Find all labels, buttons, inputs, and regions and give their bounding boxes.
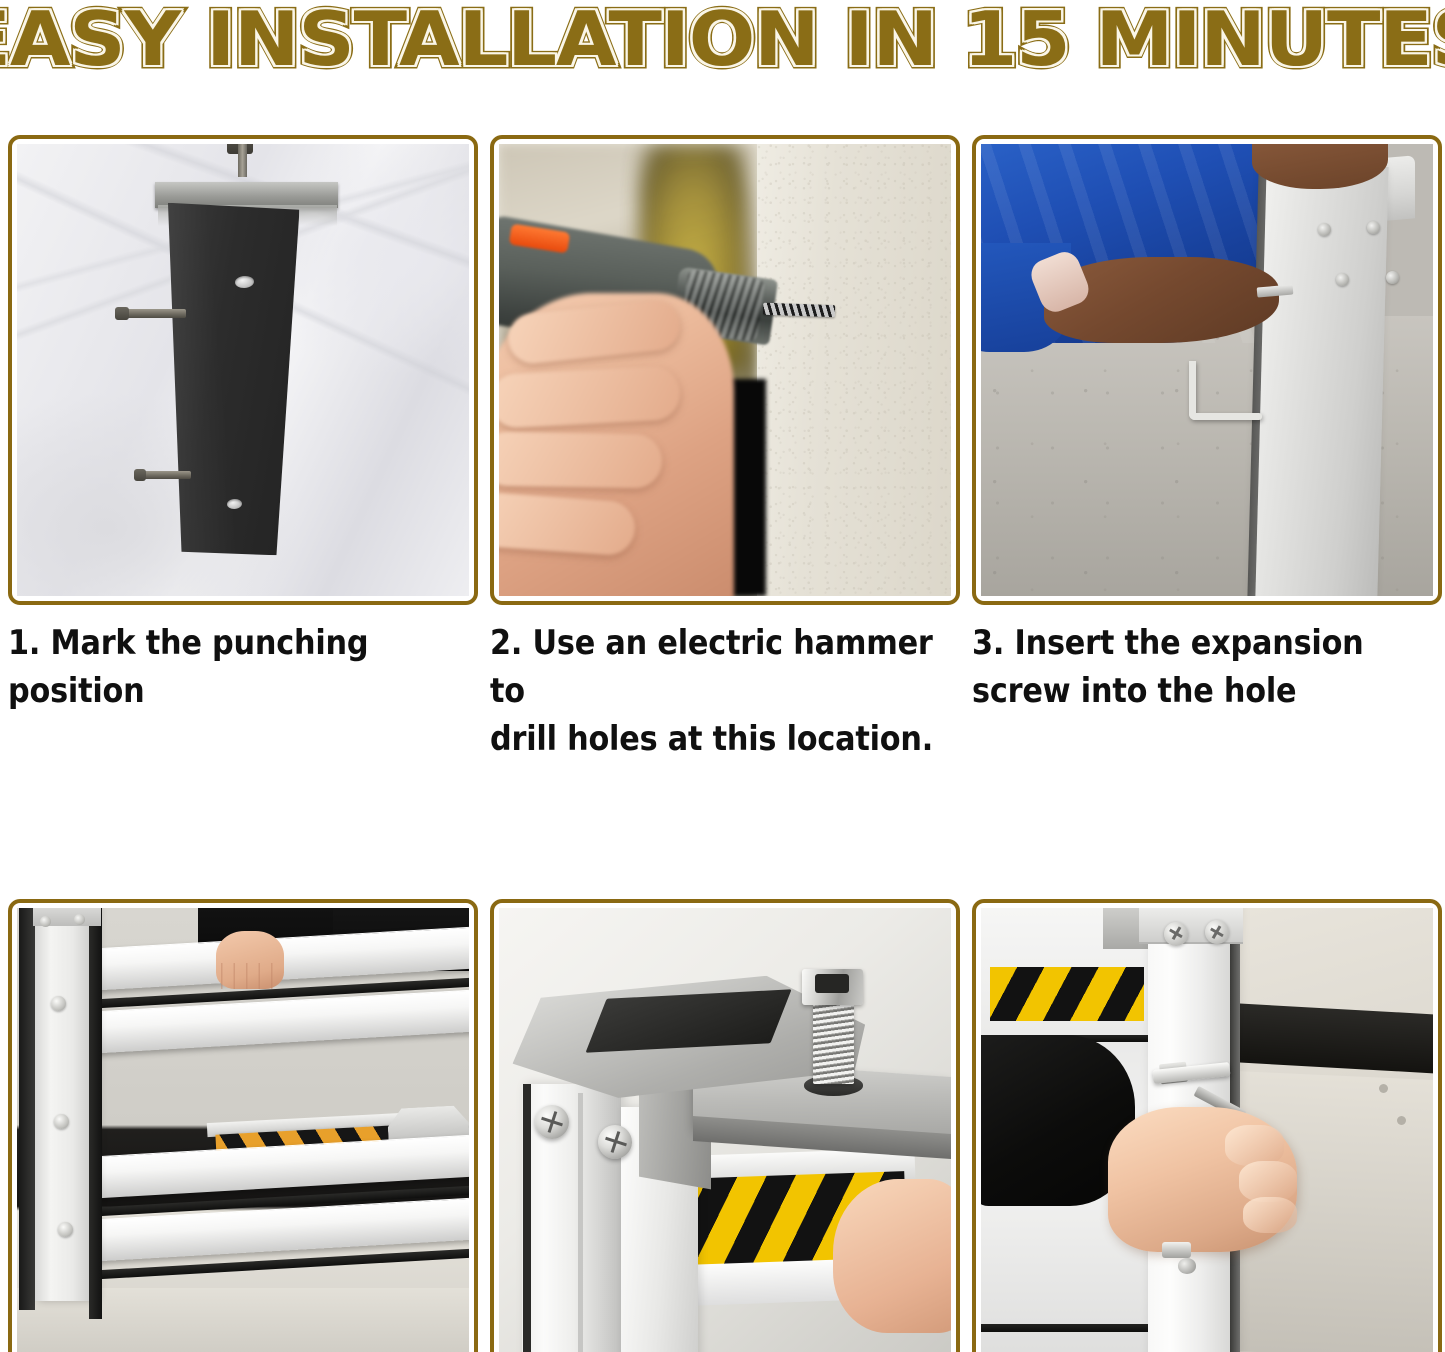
step-4-photo-frame (8, 899, 478, 1352)
lower-screw-head (1178, 1258, 1196, 1273)
column-dark-edge (523, 1084, 530, 1352)
hex-bolt-head (802, 969, 863, 1005)
lower-screw-fitting (1162, 1242, 1191, 1257)
floor-speck-1 (1379, 1084, 1388, 1093)
knuckle-1 (1225, 1125, 1284, 1166)
step-6-photo-tighten-screws (981, 908, 1433, 1352)
post-screw-1 (51, 996, 66, 1011)
floor-speck-2 (1397, 1116, 1406, 1125)
drill-bit (763, 302, 836, 316)
step-card-5: 5. Install the lower pressing parts on b… (490, 899, 960, 1352)
hazard-stripe (990, 967, 1144, 1021)
post-shadow-left (19, 908, 35, 1310)
step-1-photo-frame (8, 135, 478, 605)
step-5-photo-lower-pressing-parts (499, 908, 951, 1352)
step-card-6: 6. Tighten the screws on both sides of t… (972, 899, 1442, 1352)
top-threaded-rod (238, 144, 247, 177)
step-2-photo-frame (490, 135, 960, 605)
page-title-banner: EASY INSTALLATION IN 15 MINUTES (0, 0, 1445, 84)
panel-gap-2 (981, 1324, 1162, 1332)
step-card-4: 4. Put the motherboard into the card slo… (8, 899, 478, 1352)
phillips-screw-1 (535, 1105, 569, 1139)
installation-guide-page: EASY INSTALLATION IN 15 MINUTES (0, 0, 1445, 1352)
bolt-thread (813, 1003, 854, 1084)
installer-hand (833, 1179, 951, 1333)
finger-middle (499, 365, 681, 429)
step-card-1: 1. Mark the punching position (8, 135, 478, 763)
expansion-bolt-upper (119, 309, 187, 318)
allen-key-icon (1189, 361, 1214, 420)
step-5-photo-frame (490, 899, 960, 1352)
step-4-photo-insert-boards (17, 908, 469, 1352)
step-2-photo-drill-holes (499, 144, 951, 596)
step-3-photo-frame (972, 135, 1442, 605)
step-6-photo-frame (972, 899, 1442, 1352)
step-3-photo-insert-expansion-screw (981, 144, 1433, 596)
textured-wall (757, 144, 951, 596)
finger-ring (499, 432, 662, 489)
page-title: EASY INSTALLATION IN 15 MINUTES (0, 2, 1445, 77)
steps-row-bottom: 4. Put the motherboard into the card slo… (8, 899, 1437, 1352)
guide-post (35, 908, 96, 1301)
column-groove (578, 1093, 583, 1352)
step-1-caption: 1. Mark the punching position (8, 619, 473, 715)
bracket-slot (586, 989, 792, 1053)
step-card-2: 2. Use an electric hammer to drill holes… (490, 135, 960, 763)
step-3-caption: 3. Insert the expansion screw into the h… (972, 619, 1437, 715)
knuckle-3 (1243, 1197, 1297, 1233)
post-screw-3 (58, 1222, 73, 1237)
step-2-caption: 2. Use an electric hammer to drill holes… (490, 619, 955, 763)
steps-row-top: 1. Mark the punching position (8, 135, 1437, 763)
installer-hand (216, 931, 284, 990)
cap-screw-2 (1205, 920, 1229, 944)
steps-grid: 1. Mark the punching position (8, 135, 1437, 1352)
column-screw-1 (1318, 223, 1331, 236)
post-screw-2 (54, 1114, 69, 1129)
step-1-photo-mark-punching-position (17, 144, 469, 596)
post-cap-screw-2 (74, 914, 85, 925)
step-card-3: 3. Insert the expansion screw into the h… (972, 135, 1442, 763)
cap-screw-1 (1164, 922, 1188, 946)
expansion-bolt-lower (137, 471, 191, 479)
post-channel (89, 908, 102, 1319)
column-screw-4 (1386, 271, 1399, 284)
post-cap-screw-1 (40, 916, 51, 927)
column-screw-3 (1336, 273, 1349, 286)
knuckle-2 (1239, 1161, 1298, 1202)
